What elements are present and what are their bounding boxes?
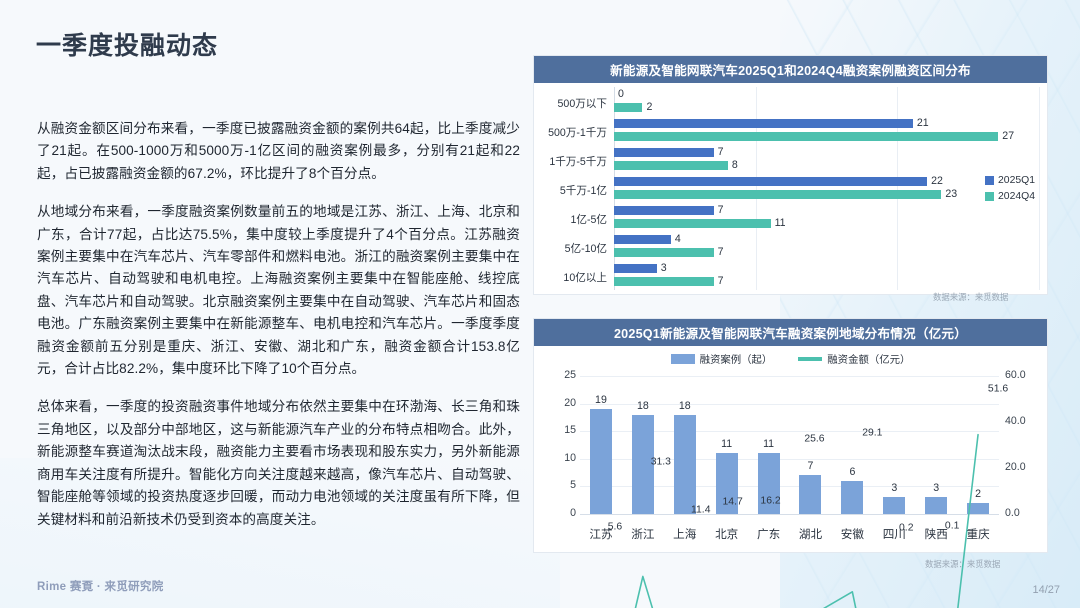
bar-group-2025Q1: 22: [614, 176, 1041, 187]
bar-value-label: 2: [646, 102, 652, 113]
bar-group-2024Q4: 7: [614, 276, 1041, 287]
bar-group-2025Q1: 7: [614, 147, 1041, 158]
chart-legend-financing-range: 2025Q12024Q4: [985, 175, 1035, 207]
bar-group-2024Q4: 8: [614, 160, 1041, 171]
x-axis-label: 重庆: [957, 526, 999, 542]
bar-group-2024Q4: 2: [614, 102, 1041, 113]
paragraph-3: 总体来看，一季度的投资融资事件地域分布依然主要集中在环渤海、长三角和珠三角地区，…: [37, 396, 520, 530]
x-axis-label: 江苏: [580, 526, 622, 542]
footer-logo: Rime 赛覔 · 来觅研究院: [37, 578, 164, 594]
y-axis-right-tick: 40.0: [1005, 415, 1047, 427]
chart-x-axis-labels: 江苏浙江上海北京广东湖北安徽四川陕西重庆: [580, 526, 999, 542]
x-axis-label: 浙江: [622, 526, 664, 542]
bar-group-2025Q1: 3: [614, 263, 1041, 274]
x-axis-label: 北京: [706, 526, 748, 542]
x-axis-label: 四川: [873, 526, 915, 542]
bar-group-2024Q4: 27: [614, 131, 1041, 142]
y-axis-right-tick: 0.0: [1005, 507, 1047, 519]
bar-row-label: 5千万-1亿: [534, 183, 614, 198]
chart-legend-regional: 融资案例（起）融资金额（亿元）: [534, 351, 1047, 366]
bar-value-label: 3: [661, 263, 667, 274]
bar-group-2025Q1: 0: [614, 89, 1041, 100]
bar-row-bars: 711: [614, 205, 1047, 234]
line-value-label: 31.3: [651, 457, 671, 468]
paragraph-2: 从地域分布来看，一季度融资案例数量前五的地域是江苏、浙江、上海、北京和广东，合计…: [37, 201, 520, 380]
bar-row-label: 500万以下: [534, 96, 614, 111]
bar-value-label: 7: [718, 247, 724, 258]
bar-row-label: 5亿-10亿: [534, 241, 614, 256]
line-value-label: 14.7: [723, 497, 743, 508]
legend-item-2024Q4[interactable]: 2024Q4: [985, 191, 1035, 202]
bar-group-2025Q1: 4: [614, 234, 1041, 245]
page-title: 一季度投融动态: [36, 26, 218, 62]
source-note-top: 数据来源：来觅数据: [933, 291, 1008, 303]
y-axis-left-tick: 10: [534, 452, 576, 464]
chart-card-financing-range: 新能源及智能网联汽车2025Q1和2024Q4融资案例融资区间分布 500万以下…: [533, 55, 1048, 295]
bar-group-2024Q4: 7: [614, 247, 1041, 258]
chart-card-regional-distribution: 2025Q1新能源及智能网联汽车融资案例地域分布情况（亿元） 融资案例（起）融资…: [533, 318, 1048, 553]
line-value-label: 29.1: [862, 428, 882, 439]
legend-item-融资金额（亿元）[interactable]: 融资金额（亿元）: [798, 351, 910, 366]
x-axis-label: 湖北: [790, 526, 832, 542]
y-axis-right-tick: 20.0: [1005, 461, 1047, 473]
bar-row: 1亿-5亿711: [534, 205, 1047, 234]
paragraph-1: 从融资金额区间分布来看，一季度已披露融资金额的案例共64起，比上季度减少了21起…: [37, 118, 520, 185]
bar-value-label: 21: [917, 118, 929, 129]
bar: [614, 119, 913, 128]
bar-value-label: 11: [775, 218, 786, 229]
bar: [614, 161, 728, 170]
bar: [614, 177, 927, 186]
article-text-column: 从融资金额区间分布来看，一季度已披露融资金额的案例共64起，比上季度减少了21起…: [37, 118, 520, 547]
bar-group-2024Q4: 11: [614, 218, 1041, 229]
bar-row-bars: 47: [614, 234, 1047, 263]
legend-swatch: [671, 354, 695, 364]
chart-title-financing-range: 新能源及智能网联汽车2025Q1和2024Q4融资案例融资区间分布: [534, 56, 1047, 83]
bar: [614, 235, 671, 244]
chart-rows: 500万以下02500万-1千万21271千万-5千万785千万-1亿22231…: [534, 89, 1047, 292]
bar-value-label: 8: [732, 160, 738, 171]
bar-group-2025Q1: 21: [614, 118, 1041, 129]
bar-value-label: 7: [718, 276, 724, 287]
line-value-label: 51.6: [988, 384, 1008, 395]
bar: [614, 219, 771, 228]
bar: [614, 148, 714, 157]
combo-chart: 融资案例（起）融资金额（亿元） 05101520250.020.040.060.…: [534, 346, 1047, 552]
y-axis-left-tick: 5: [534, 479, 576, 491]
bar-value-label: 0: [618, 89, 624, 100]
y-axis-left-tick: 0: [534, 507, 576, 519]
bar-group-2025Q1: 7: [614, 205, 1041, 216]
bar-value-label: 7: [718, 205, 724, 216]
bar-value-label: 22: [931, 176, 943, 187]
bar-row-label: 1亿-5亿: [534, 212, 614, 227]
bar-row-bars: 78: [614, 147, 1047, 176]
bar-row: 500万以下02: [534, 89, 1047, 118]
bar-row-label: 500万-1千万: [534, 125, 614, 140]
y-axis-left-tick: 20: [534, 397, 576, 409]
legend-label: 融资金额（亿元）: [827, 351, 910, 366]
y-axis-left-tick: 15: [534, 424, 576, 436]
bar: [614, 206, 714, 215]
bar-row-label: 1千万-5千万: [534, 154, 614, 169]
y-axis-right-tick: 60.0: [1005, 369, 1047, 381]
bar-row: 5亿-10亿47: [534, 234, 1047, 263]
chart-body-regional-distribution: 融资案例（起）融资金额（亿元） 05101520250.020.040.060.…: [534, 346, 1047, 552]
legend-label: 融资案例（起）: [700, 351, 773, 366]
line-series: [580, 376, 999, 608]
bar-row: 10亿以上37: [534, 263, 1047, 292]
bar-row: 500万-1千万2127: [534, 118, 1047, 147]
legend-swatch: [798, 357, 822, 361]
bar-group-2024Q4: 23: [614, 189, 1041, 200]
bar-value-label: 4: [675, 234, 681, 245]
line-value-label: 11.4: [691, 504, 710, 515]
x-axis-label: 广东: [748, 526, 790, 542]
chart-title-regional-distribution: 2025Q1新能源及智能网联汽车融资案例地域分布情况（亿元）: [534, 319, 1047, 346]
legend-swatch: [985, 192, 994, 201]
x-axis-label: 上海: [664, 526, 706, 542]
line-value-label: 25.6: [804, 434, 824, 445]
x-axis-label: 陕西: [915, 526, 957, 542]
x-axis-label: 安徽: [831, 526, 873, 542]
line-value-label: 16.2: [760, 495, 780, 506]
legend-swatch: [985, 176, 994, 185]
bar: [614, 248, 714, 257]
source-note-bottom: 数据来源：来觅数据: [925, 558, 1000, 570]
bar: [614, 132, 998, 141]
legend-item-融资案例（起）[interactable]: 融资案例（起）: [671, 351, 773, 366]
bar-row-bars: 02: [614, 89, 1047, 118]
legend-label: 2024Q4: [998, 191, 1035, 202]
page-number: 14/27: [1032, 584, 1060, 596]
bar: [614, 264, 657, 273]
chart-body-financing-range: 500万以下02500万-1千万21271千万-5千万785千万-1亿22231…: [534, 83, 1047, 294]
legend-label: 2025Q1: [998, 175, 1035, 186]
chart-plot-area: 05101520250.020.040.060.0191818111176332…: [580, 376, 999, 514]
bar-row-bars: 37: [614, 263, 1047, 292]
bar-value-label: 27: [1002, 131, 1014, 142]
bar-row: 1千万-5千万78: [534, 147, 1047, 176]
bar-value-label: 23: [945, 189, 957, 200]
bar: [614, 103, 642, 112]
bar: [614, 190, 941, 199]
horizontal-bar-chart: 500万以下02500万-1千万21271千万-5千万785千万-1亿22231…: [534, 83, 1047, 294]
bar-row-label: 10亿以上: [534, 270, 614, 285]
legend-item-2025Q1[interactable]: 2025Q1: [985, 175, 1035, 186]
y-axis-left-tick: 25: [534, 369, 576, 381]
bar-row-bars: 2223: [614, 176, 1047, 205]
bar-row: 5千万-1亿2223: [534, 176, 1047, 205]
bar: [614, 277, 714, 286]
bar-value-label: 7: [718, 147, 724, 158]
bar-row-bars: 2127: [614, 118, 1047, 147]
